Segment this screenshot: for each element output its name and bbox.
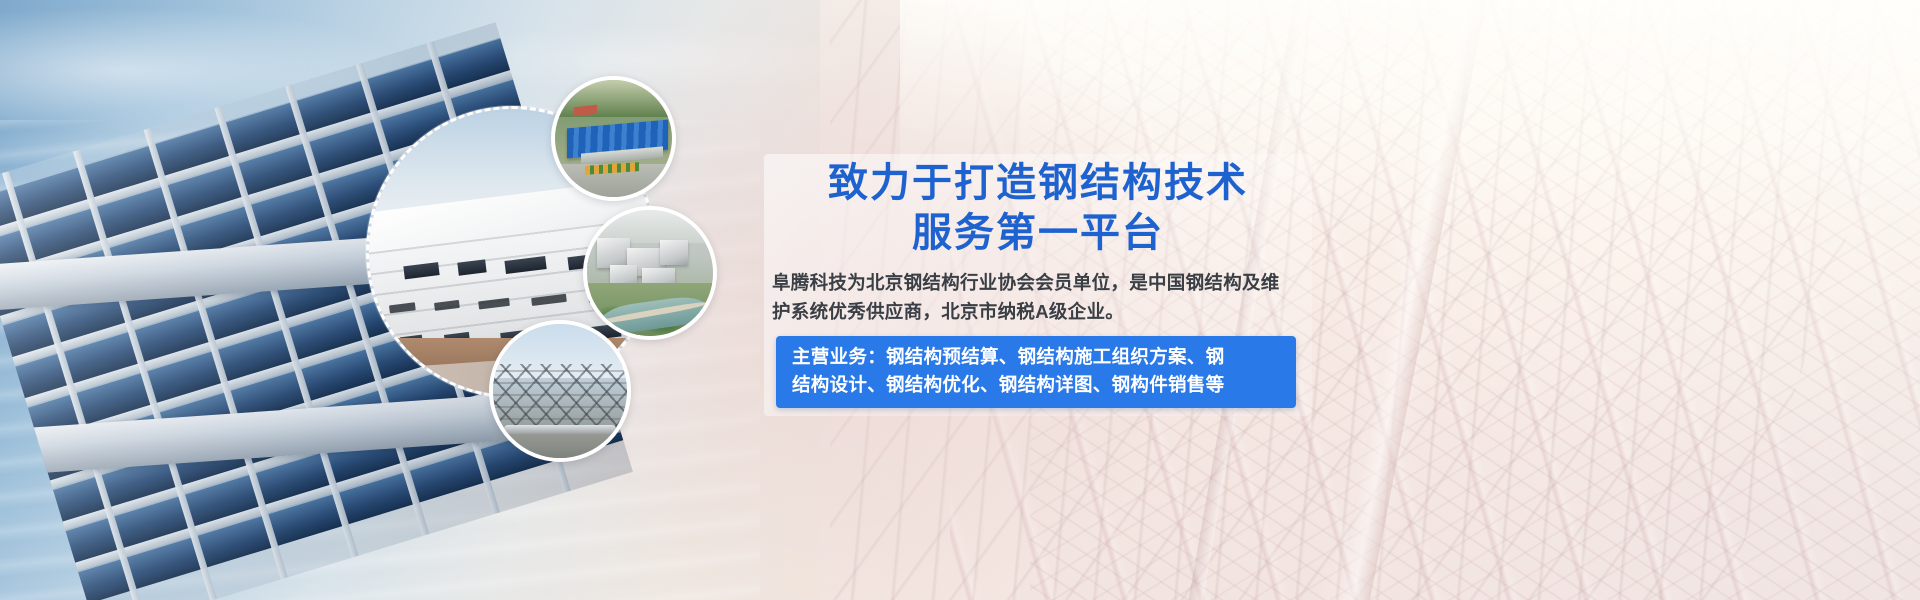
badge-line-1: 主营业务：钢结构预结算、钢结构施工组织方案、钢 [792,343,1284,371]
photo-office-block [660,240,688,265]
photo-office-block [597,238,630,268]
photo-treeline [555,80,672,117]
badge-line-2: 结构设计、钢结构优化、钢结构详图、钢构件销售等 [792,371,1284,399]
photo-window [457,260,487,276]
thumbnail-photo-circle-1 [551,76,676,201]
photo-window [504,256,546,274]
photo-steel-pipe [504,425,617,434]
headline-line-2: 服务第一平台 [764,208,1312,258]
description-line-1: 阜腾科技为北京钢结构行业协会会员单位，是中国钢结构及维 [772,268,1306,297]
photo-window [531,294,566,306]
photo-window [477,297,509,309]
page-title: 致力于打造钢结构技术 服务第一平台 [764,158,1312,258]
description-line-2: 护系统优秀供应商，北京市纳税A级企业。 [772,297,1306,326]
thumbnail-photo-circle-2 [583,206,717,340]
blue-roof-factory-aerial-photo [555,80,672,197]
photo-window [403,262,439,279]
main-business-badge: 主营业务：钢结构预结算、钢结构施工组织方案、钢 结构设计、钢结构优化、钢结构详图… [776,336,1296,408]
banner-stage: 致力于打造钢结构技术 服务第一平台 阜腾科技为北京钢结构行业协会会员单位，是中国… [0,0,1920,600]
thumbnail-photo-circle-3 [489,320,631,462]
headline-line-1: 致力于打造钢结构技术 [764,158,1312,208]
steel-truss-structure-photo [493,324,627,458]
photo-window [389,303,415,314]
office-campus-aerial-photo [587,210,713,336]
description-text: 阜腾科技为北京钢结构行业协会会员单位，是中国钢结构及维 护系统优秀供应商，北京市… [772,268,1306,326]
photo-window [433,300,459,311]
